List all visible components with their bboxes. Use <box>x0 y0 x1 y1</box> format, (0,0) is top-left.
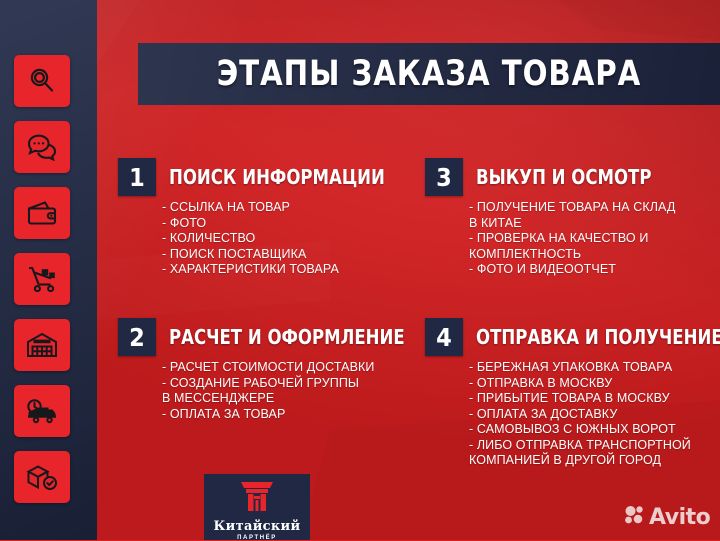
list-item: - ССЫЛКА НА ТОВАР <box>162 200 408 216</box>
step-block-3: 3 ВЫКУП И ОСМОТР - ПОЛУЧЕНИЕ ТОВАРА НА С… <box>425 158 715 278</box>
avito-dots-icon <box>624 505 646 530</box>
list-item: - ОТПРАВКА В МОСКВУ <box>469 376 720 392</box>
list-item: - ПРИБЫТИЕ ТОВАРА В МОСКВУ <box>469 391 720 407</box>
logo-subtitle: ПАРТНЁР <box>237 535 277 541</box>
wallet-icon-tile[interactable] <box>14 187 70 239</box>
step-header: 4 ОТПРАВКА И ПОЛУЧЕНИЕ <box>425 318 720 356</box>
list-item: - БЕРЕЖНАЯ УПАКОВКА ТОВАРА <box>469 360 720 376</box>
step-header: 2 РАСЧЕТ И ОФОРМЛЕНИЕ <box>118 318 413 356</box>
step-title: РАСЧЕТ И ОФОРМЛЕНИЕ <box>169 325 405 349</box>
list-item: - ПОЛУЧЕНИЕ ТОВАРА НА СКЛАД В КИТАЕ <box>469 200 715 231</box>
step-title: ПОИСК ИНФОРМАЦИИ <box>169 165 385 189</box>
avito-watermark: Avito <box>624 505 710 530</box>
list-item: - ОПЛАТА ЗА ДОСТАВКУ <box>469 407 720 423</box>
logo-name: Китайский <box>214 519 301 534</box>
chat-bubbles-icon <box>25 132 59 162</box>
search-icon <box>26 65 58 97</box>
step-title: ОТПРАВКА И ПОЛУЧЕНИЕ <box>476 325 720 349</box>
step-block-4: 4 ОТПРАВКА И ПОЛУЧЕНИЕ - БЕРЕЖНАЯ УПАКОВ… <box>425 318 720 469</box>
list-item: - ПРОВЕРКА НА КАЧЕСТВО И КОМПЛЕКТНОСТЬ <box>469 231 715 262</box>
list-item: - РАСЧЕТ СТОИМОСТИ ДОСТАВКИ <box>162 360 413 376</box>
step-bullet-list: - БЕРЕЖНАЯ УПАКОВКА ТОВАРА - ОТПРАВКА В … <box>469 360 720 469</box>
list-item: - ХАРАКТЕРИСТИКИ ТОВАРА <box>162 262 408 278</box>
step-number-badge: 1 <box>118 158 156 196</box>
step-block-2: 2 РАСЧЕТ И ОФОРМЛЕНИЕ - РАСЧЕТ СТОИМОСТИ… <box>118 318 413 422</box>
sidebar <box>0 0 97 540</box>
header-banner: ЭТАПЫ ЗАКАЗА ТОВАРА <box>138 43 720 105</box>
list-item: - ЛИБО ОТПРАВКА ТРАНСПОРТНОЙ КОМПАНИЕЙ В… <box>469 438 720 469</box>
list-item: - КОЛИЧЕСТВО <box>162 231 408 247</box>
wallet-icon <box>25 198 59 228</box>
brand-logo: Китайский ПАРТНЁР <box>204 474 310 540</box>
step-number-badge: 2 <box>118 318 156 356</box>
avito-label: Avito <box>649 505 710 530</box>
warehouse-icon-tile[interactable] <box>14 319 70 371</box>
search-icon-tile[interactable] <box>14 55 70 107</box>
step-number-badge: 3 <box>425 158 463 196</box>
list-item: - ОПЛАТА ЗА ТОВАР <box>162 407 413 423</box>
step-header: 3 ВЫКУП И ОСМОТР <box>425 158 715 196</box>
step-number-badge: 4 <box>425 318 463 356</box>
chat-bubbles-icon-tile[interactable] <box>14 121 70 173</box>
list-item: - ФОТО <box>162 216 408 232</box>
step-bullet-list: - ССЫЛКА НА ТОВАР - ФОТО - КОЛИЧЕСТВО - … <box>162 200 408 278</box>
list-item: - ФОТО И ВИДЕООТЧЕТ <box>469 262 715 278</box>
box-check-icon <box>25 462 59 492</box>
step-title: ВЫКУП И ОСМОТР <box>476 165 651 189</box>
torii-gate-icon <box>237 479 277 518</box>
step-header: 1 ПОИСК ИНФОРМАЦИИ <box>118 158 408 196</box>
step-block-1: 1 ПОИСК ИНФОРМАЦИИ - ССЫЛКА НА ТОВАР - Ф… <box>118 158 408 278</box>
step-bullet-list: - ПОЛУЧЕНИЕ ТОВАРА НА СКЛАД В КИТАЕ - ПР… <box>469 200 715 278</box>
list-item: - ПОИСК ПОСТАВЩИКА <box>162 247 408 263</box>
hand-truck-icon <box>25 264 59 294</box>
step-bullet-list: - РАСЧЕТ СТОИМОСТИ ДОСТАВКИ - СОЗДАНИЕ Р… <box>162 360 413 422</box>
box-check-icon-tile[interactable] <box>14 451 70 503</box>
list-item: - САМОВЫВОЗ С ЮЖНЫХ ВОРОТ <box>469 422 720 438</box>
page-title: ЭТАПЫ ЗАКАЗА ТОВАРА <box>158 54 699 94</box>
delivery-truck-clock-icon-tile[interactable] <box>14 385 70 437</box>
delivery-truck-clock-icon <box>25 396 59 426</box>
hand-truck-icon-tile[interactable] <box>14 253 70 305</box>
list-item: - СОЗДАНИЕ РАБОЧЕЙ ГРУППЫ В МЕССЕНДЖЕРЕ <box>162 376 413 407</box>
warehouse-icon <box>25 330 59 360</box>
